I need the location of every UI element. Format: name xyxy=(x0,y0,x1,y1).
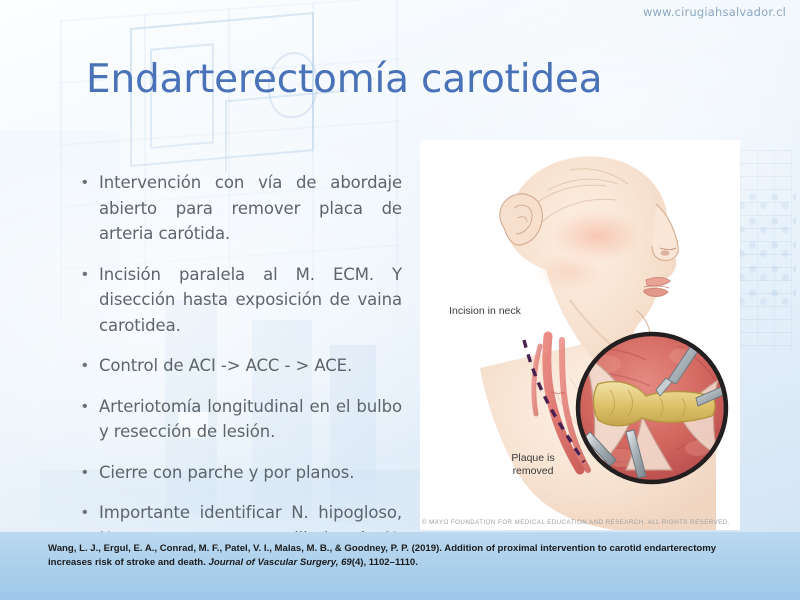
background-building-roofline xyxy=(225,90,347,173)
bullet-marker-icon: • xyxy=(80,170,99,196)
list-item: • Intervención con vía de abordaje abier… xyxy=(80,170,402,247)
reference-citation: Wang, L. J., Ergul, E. A., Conrad, M. F.… xyxy=(48,542,760,569)
bullet-marker-icon: • xyxy=(80,394,99,420)
mayo-copyright-notice: © MAYO FOUNDATION FOR MEDICAL EDUCATION … xyxy=(422,519,730,526)
bullet-marker-icon: • xyxy=(80,262,99,288)
list-item: • Cierre con parche y por planos. xyxy=(80,460,402,486)
carotid-endarterectomy-illustration: Incision in neck Plaque is removed © MAY… xyxy=(420,140,740,530)
bullet-text: Cierre con parche y por planos. xyxy=(99,460,402,486)
anatomy-diagram-svg xyxy=(420,140,740,530)
bullet-text: Incisión paralela al M. ECM. Y disección… xyxy=(99,262,402,339)
incision-label: Incision in neck xyxy=(448,305,522,318)
site-watermark-url: www.cirugiahsalvador.cl xyxy=(643,5,786,19)
bullet-marker-icon: • xyxy=(80,353,99,379)
plaque-label: Plaque is removed xyxy=(498,452,568,478)
list-item: • Arteriotomía longitudinal en el bulbo … xyxy=(80,394,402,445)
bullet-text: Arteriotomía longitudinal en el bulbo y … xyxy=(99,394,402,445)
page-title: Endarterectomía carotidea xyxy=(86,57,602,102)
presentation-slide: www.cirugiahsalvador.cl Endarterectomía … xyxy=(0,0,800,600)
citation-journal: Journal of Vascular Surgery, 69 xyxy=(209,557,352,568)
list-item: • Incisión paralela al M. ECM. Y disecci… xyxy=(80,262,402,339)
bullet-marker-icon: • xyxy=(80,500,99,526)
bullet-text: Intervención con vía de abordaje abierto… xyxy=(99,170,402,247)
citation-band: Wang, L. J., Ergul, E. A., Conrad, M. F.… xyxy=(0,532,800,600)
bullet-marker-icon: • xyxy=(80,460,99,486)
bullet-list: • Intervención con vía de abordaje abier… xyxy=(80,170,402,592)
list-item: • Control de ACI -> ACC - > ACE. xyxy=(80,353,402,379)
citation-pages: (4), 1102–1110. xyxy=(352,557,418,568)
bullet-text: Control de ACI -> ACC - > ACE. xyxy=(99,353,402,379)
